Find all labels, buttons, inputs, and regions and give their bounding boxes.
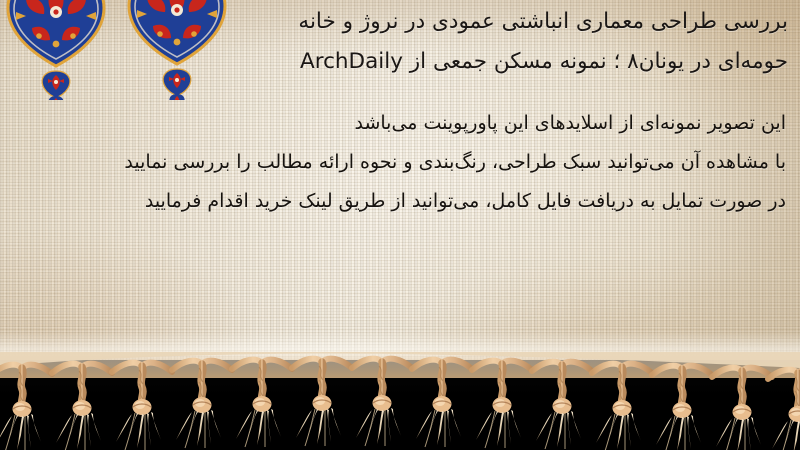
slide-body-text: این تصویر نمونه‌ای از اسلایدهای این پاور… xyxy=(6,104,786,221)
slide-title-line-1: بررسی طراحی معماری انباشتی عمودی در نروژ… xyxy=(202,2,788,42)
carpet-tassel-fringe xyxy=(0,352,800,450)
slide-body-line-3: در صورت تمایل به دریافت فایل کامل، می‌تو… xyxy=(6,182,786,221)
slide-text-layer: بررسی طراحی معماری انباشتی عمودی در نروژ… xyxy=(0,0,800,372)
slide-body-line-1: این تصویر نمونه‌ای از اسلایدهای این پاور… xyxy=(6,104,786,143)
slide-title: بررسی طراحی معماری انباشتی عمودی در نروژ… xyxy=(202,2,788,82)
slide-body-line-2: با مشاهده آن می‌توانید سبک طراحی، رنگ‌بن… xyxy=(6,143,786,182)
tassel-row xyxy=(0,359,800,450)
slide-title-line-2: حومه‌ای در یونان۸ ؛ نمونه مسکن جمعی از A… xyxy=(202,42,788,82)
slide-canvas: بررسی طراحی معماری انباشتی عمودی در نروژ… xyxy=(0,0,800,450)
